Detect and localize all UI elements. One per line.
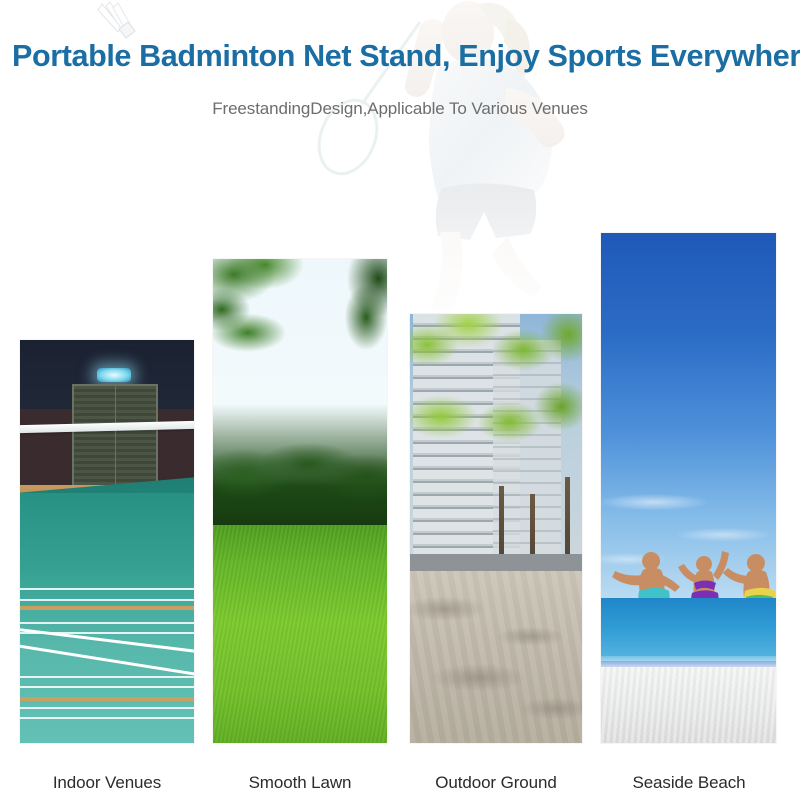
lawn-grass [213,525,387,743]
scene-photo-outdoor-ground [410,314,582,743]
scene-photo-indoor-venues [20,340,194,743]
product-banner: Portable Badminton Net Stand, Enjoy Spor… [0,0,800,800]
beach-sand [601,667,776,744]
indoor-door [72,384,158,493]
caption-indoor-venues: Indoor Venues [10,773,204,793]
page-title: Portable Badminton Net Stand, Enjoy Spor… [12,38,780,74]
caption-seaside-beach: Seaside Beach [594,773,784,793]
ground-pavement [410,571,582,743]
shuttlecock-icon [96,2,142,42]
scene-photo-smooth-lawn [213,259,387,743]
caption-smooth-lawn: Smooth Lawn [203,773,397,793]
scene-photo-seaside-beach [601,233,776,743]
lawn-treeline [213,404,387,530]
indoor-lamp [97,368,131,382]
indoor-wall-left [20,409,72,498]
caption-outdoor-ground: Outdoor Ground [397,773,595,793]
indoor-court-lines [20,485,194,743]
page-subtitle: FreestandingDesign,Applicable To Various… [0,99,800,119]
ground-tree-foliage [410,314,582,571]
beach-sea [601,598,776,662]
